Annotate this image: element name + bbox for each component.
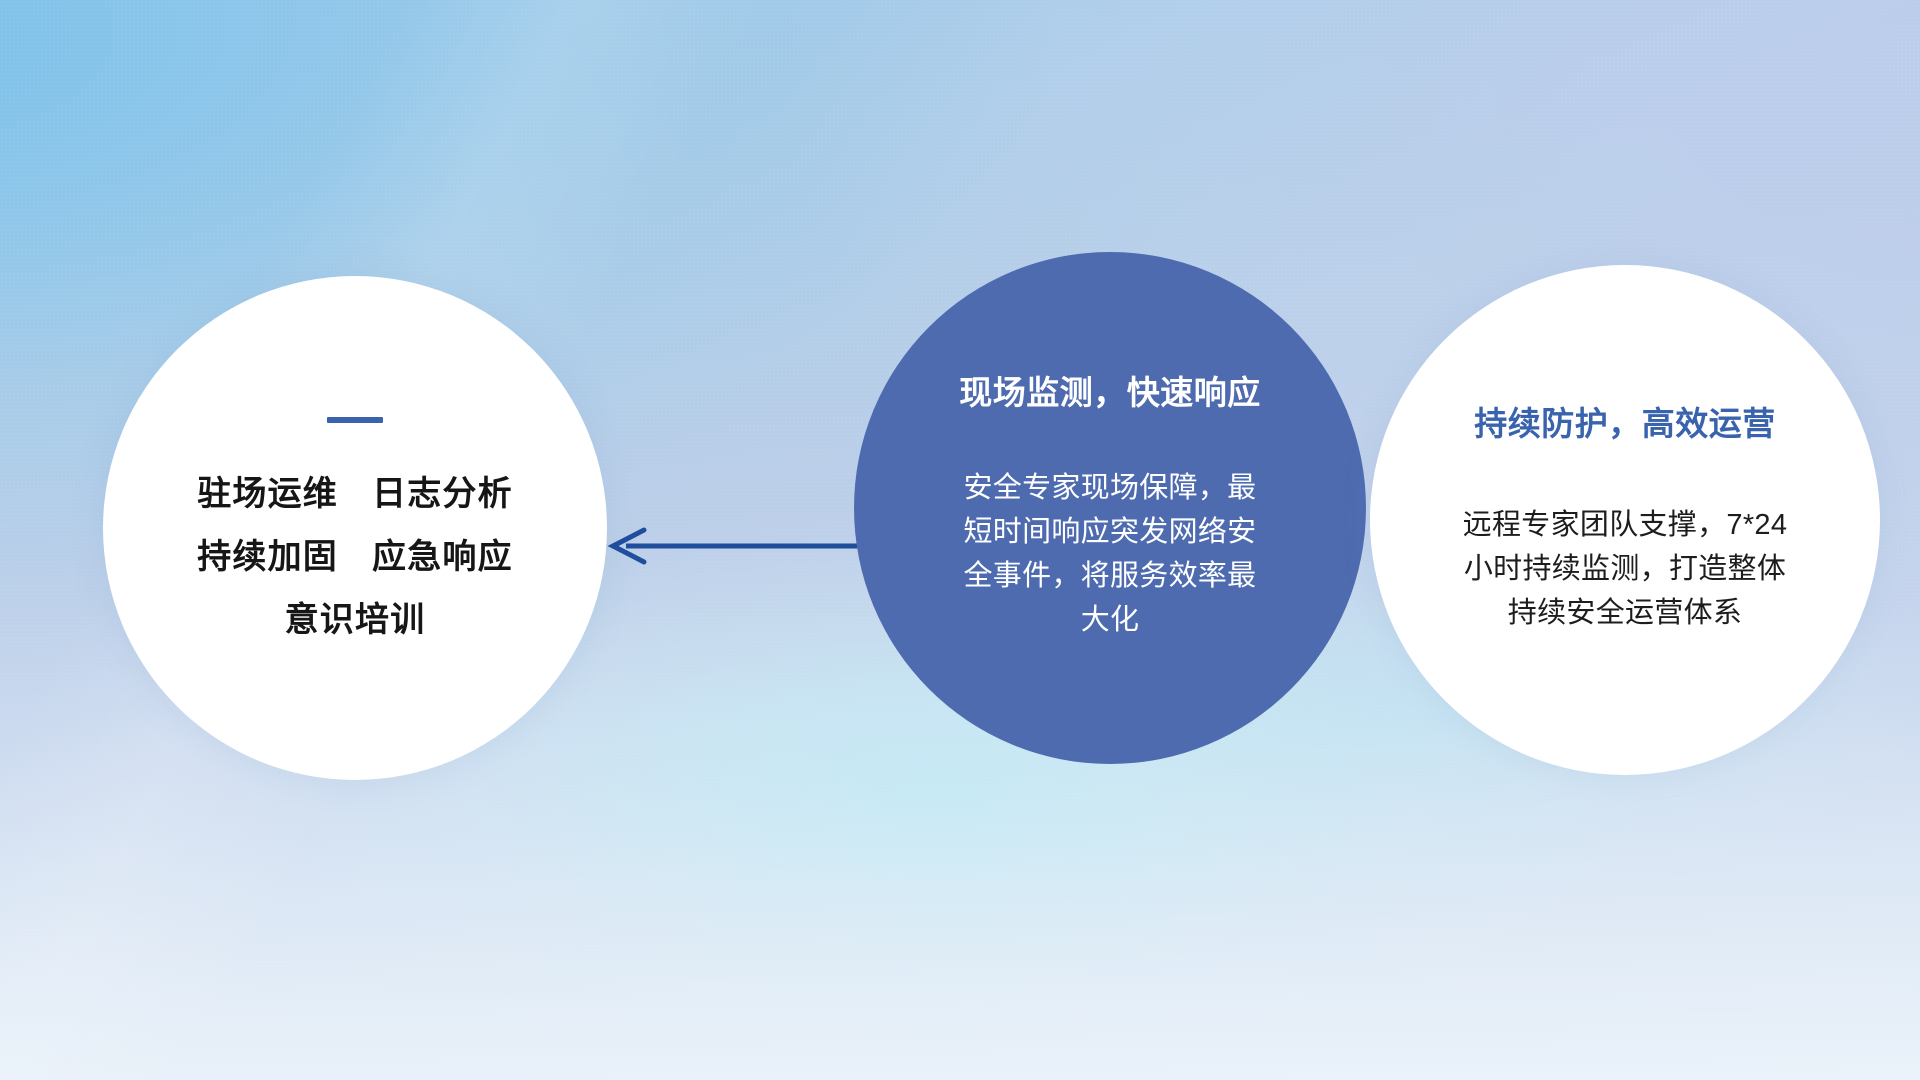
- keyword-row: 意识培训: [285, 602, 426, 639]
- continuous-protection-heading: 持续防护，高效运营: [1474, 405, 1776, 443]
- onsite-monitoring-heading: 现场监测，快速响应: [959, 374, 1261, 412]
- capability-keyword-list: 驻场运维 日志分析 持续加固 应急响应 意识培训: [197, 476, 513, 638]
- keyword-row: 驻场运维 日志分析: [197, 476, 513, 513]
- keyword-item[interactable]: 驻场运维: [197, 476, 338, 513]
- keyword-item[interactable]: 意识培训: [285, 602, 426, 639]
- keyword-item[interactable]: 日志分析: [372, 476, 513, 513]
- onsite-monitoring-circle[interactable]: 现场监测，快速响应 安全专家现场保障，最短时间响应突发网络安全事件，将服务效率最…: [854, 252, 1366, 764]
- onsite-monitoring-content: 现场监测，快速响应 安全专家现场保障，最短时间响应突发网络安全事件，将服务效率最…: [854, 252, 1366, 764]
- continuous-protection-content: 持续防护，高效运营 远程专家团队支撑，7*24小时持续监测，打造整体持续安全运营…: [1370, 265, 1880, 775]
- keyword-item[interactable]: 持续加固: [197, 539, 338, 576]
- capability-keywords-content: 驻场运维 日志分析 持续加固 应急响应 意识培训: [103, 276, 607, 780]
- divider-dash-icon: [327, 417, 383, 423]
- capability-keywords-circle[interactable]: 驻场运维 日志分析 持续加固 应急响应 意识培训: [103, 276, 607, 780]
- continuous-protection-body: 远程专家团队支撑，7*24小时持续监测，打造整体持续安全运营体系: [1450, 503, 1800, 635]
- onsite-monitoring-body: 安全专家现场保障，最短时间响应突发网络安全事件，将服务效率最大化: [960, 466, 1260, 642]
- slide-canvas: 驻场运维 日志分析 持续加固 应急响应 意识培训 现场监测，快速响应 安全专家现…: [0, 0, 1920, 1080]
- keyword-row: 持续加固 应急响应: [197, 539, 513, 576]
- continuous-protection-circle[interactable]: 持续防护，高效运营 远程专家团队支撑，7*24小时持续监测，打造整体持续安全运营…: [1370, 265, 1880, 775]
- keyword-item[interactable]: 应急响应: [372, 539, 513, 576]
